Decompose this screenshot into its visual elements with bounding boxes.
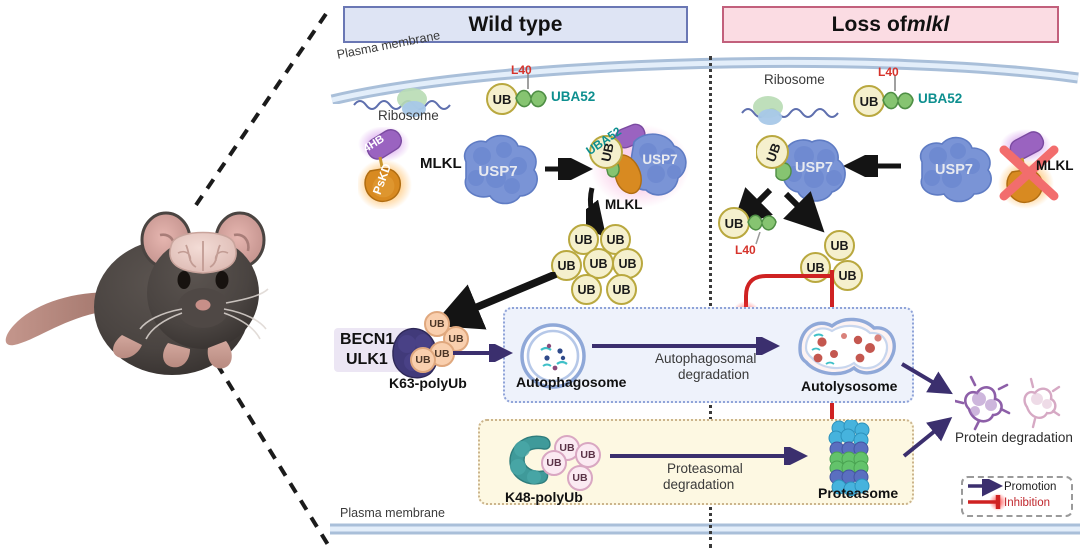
degraded-protein-icon: [955, 375, 1061, 431]
proteasomal-degradation-label-line2: degradation: [663, 477, 734, 492]
legend-inhibition-label: Inhibition: [1004, 497, 1050, 509]
l40-protein-icon-wt: [514, 86, 550, 112]
k63-ub-token: UB: [410, 347, 436, 373]
mlkl-label-ko: MLKL: [1036, 158, 1074, 173]
k48-ub-token: UB: [541, 450, 567, 476]
ribosome-label-ko: Ribosome: [764, 72, 825, 87]
l40-label-wt: L40: [511, 63, 532, 77]
pathway-figure: Wild type Loss of mlkl Plasma membrane P…: [0, 0, 1080, 555]
autophagosomal-degradation-label-line1: Autophagosomal: [655, 351, 756, 366]
svg-text:USP7: USP7: [478, 163, 517, 180]
svg-text:USP7: USP7: [935, 162, 973, 178]
plasma-membrane-label-bottom: Plasma membrane: [340, 506, 445, 520]
panel-title-gene: mlkl: [907, 13, 949, 37]
autophagosomal-degradation-label-line2: degradation: [678, 367, 749, 382]
ub-cluster-token: UB: [606, 274, 637, 305]
ulk1-label: ULK1: [346, 350, 388, 370]
ribosome-icon-ko: [740, 93, 850, 125]
l40-label-ko: L40: [878, 65, 899, 79]
plasma-membrane-bottom: [330, 519, 1080, 545]
autolysosome-label: Autolysosome: [801, 378, 897, 394]
ub-cluster-token: UB: [571, 274, 602, 305]
mouse-illustration: [0, 185, 330, 430]
usp7-protein-icon-wt: USP7: [452, 132, 544, 208]
k48-polyub-label: K48-polyUb: [505, 489, 583, 505]
arrow-usp7-right-to-left-ko: [843, 155, 907, 177]
autophagosome-label: Autophagosome: [516, 374, 626, 390]
k48-ub-token: UB: [567, 465, 593, 491]
autolysosome-icon: [792, 314, 900, 382]
uba52-label-ko: UBA52: [918, 91, 962, 106]
legend-promotion-label: Promotion: [1004, 481, 1056, 493]
panel-title-prefix: Loss of: [832, 13, 907, 37]
proteasomal-degradation-label-line1: Proteasomal: [667, 461, 743, 476]
l40-label-free-ko: L40: [735, 243, 756, 257]
legend-symbols: [966, 479, 1006, 513]
protein-degradation-label: Protein degradation: [955, 430, 1073, 445]
uba52-label-wt: UBA52: [551, 89, 595, 104]
svg-text:USP7: USP7: [642, 152, 677, 167]
usp7-protein-icon-ko-right: USP7: [908, 134, 996, 206]
l40-protein-icon-ko: [881, 88, 917, 114]
k63-polyub-label: K63-polyUb: [389, 375, 467, 391]
panel-title-wild-type: Wild type: [468, 13, 562, 37]
ribosome-label-wt: Ribosome: [378, 108, 439, 123]
arrow-becn1-to-autophagosome: [453, 344, 515, 362]
ub-cluster-token: UB: [824, 230, 855, 261]
svg-text:USP7: USP7: [795, 160, 833, 176]
proteasome-label: Proteasome: [818, 485, 898, 501]
panel-header-loss-of-mlkl: Loss of mlkl: [722, 6, 1059, 43]
